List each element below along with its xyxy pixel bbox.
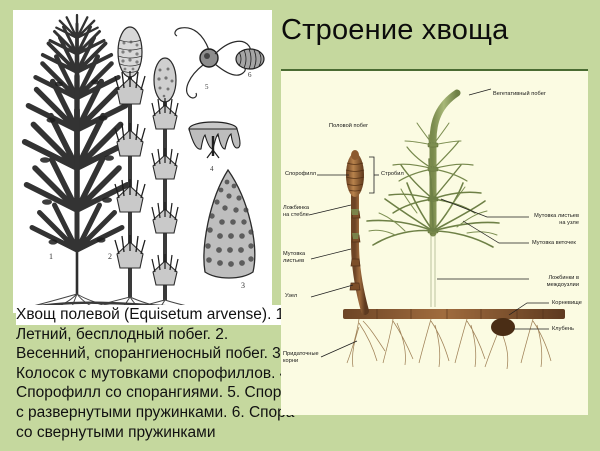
caption-line: Весенний, спорангиеносный побег. 3.	[16, 344, 312, 364]
label-tuber: Клубень	[552, 326, 574, 333]
label-leaf-whorl-at-node: Мутовка листьев на узле	[451, 213, 579, 226]
slide-canvas: Строение хвоща	[0, 0, 600, 451]
label-branch-whorl: Мутовка веточек	[532, 240, 576, 247]
svg-text:4: 4	[210, 165, 214, 173]
label-leaf-whorl-at-node-line2: на узле	[559, 220, 579, 226]
label-adventitious-roots-line2: корни	[283, 358, 298, 364]
caption-line: с развернутыми пружинками. 6. Спора	[16, 403, 312, 423]
label-sexual-shoot: Половой побег	[329, 123, 368, 130]
caption-line: Колосок с мутовками спорофиллов. 4.	[16, 364, 312, 384]
label-sporophyll: Спорофилл	[285, 171, 316, 178]
label-internode-grooves: Ложбинки в междоузлии	[451, 275, 579, 288]
caption-line: Хвощ полевой (Equisetum arvense). 1.	[16, 305, 289, 325]
label-leaf-whorl-line1: Мутовка	[283, 251, 305, 257]
label-rhizome: Корневище	[552, 300, 582, 307]
label-leaf-whorl-line2: листьев	[283, 258, 304, 264]
label-stem-groove: Ложбинка на стебле	[283, 205, 309, 218]
caption-line: Спорофилл со спорангиями. 5. Спора	[16, 383, 312, 403]
page-title: Строение хвоща	[281, 14, 591, 47]
label-strobilus: Стробил	[381, 171, 404, 178]
label-node: Узел	[285, 293, 297, 300]
left-botanical-illustration: 1	[13, 10, 272, 313]
label-vegetative-shoot: Вегетативный побег	[493, 91, 546, 98]
label-internode-grooves-line2: междоузлии	[547, 282, 579, 288]
label-leaf-whorl-at-node-line1: Мутовка листьев	[534, 213, 579, 219]
label-stem-groove-line1: Ложбинка	[283, 205, 309, 211]
svg-text:6: 6	[248, 71, 252, 79]
svg-text:1: 1	[49, 252, 53, 261]
caption-line: со свернутыми пружинками	[16, 423, 312, 443]
svg-text:5: 5	[205, 83, 209, 91]
label-stem-groove-line2: на стебле	[283, 212, 309, 218]
label-adventitious-roots-line1: Придаточные	[283, 351, 319, 357]
svg-text:3: 3	[241, 281, 245, 290]
label-internode-grooves-line1: Ложбинки в	[548, 275, 579, 281]
figure-caption: Хвощ полевой (Equisetum arvense). 1. Лет…	[16, 305, 312, 442]
horsetail-structure-diagram: Вегетативный побег Половой побег Спорофи…	[281, 69, 588, 415]
label-leaf-whorl: Мутовка листьев	[283, 251, 305, 264]
caption-line: Летний, бесплодный побег. 2.	[16, 325, 312, 345]
label-adventitious-roots: Придаточные корни	[283, 351, 319, 364]
svg-text:2: 2	[108, 252, 112, 261]
